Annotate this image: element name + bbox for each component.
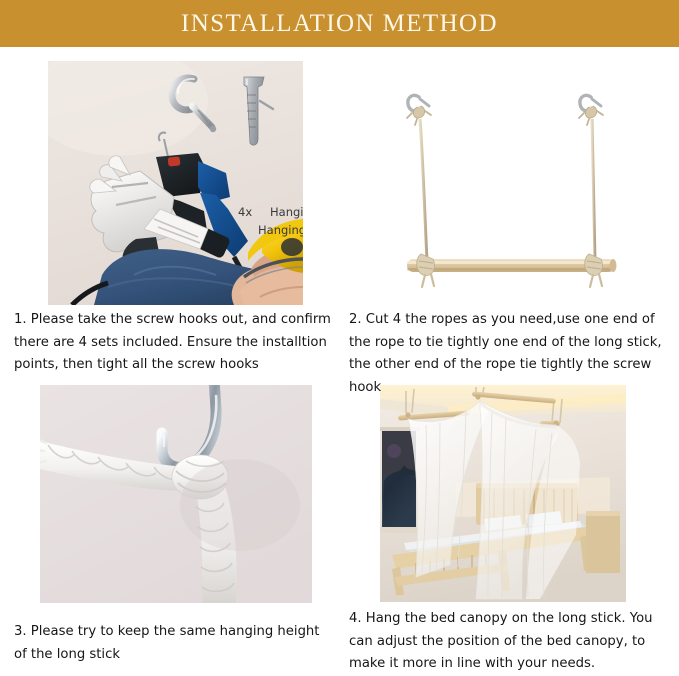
step-2-photo	[355, 61, 667, 295]
step-2-text: 2. Cut 4 the ropes as you need,use one e…	[349, 309, 677, 400]
page-title: INSTALLATION METHOD	[181, 10, 498, 38]
canopy-netting	[408, 401, 580, 599]
nightstand	[586, 513, 620, 573]
step-1-text: 1. Please take the screw hooks out, and …	[14, 309, 336, 377]
step-4-photo	[380, 385, 626, 602]
step-3-text: 3. Please try to keep the same hanging h…	[14, 621, 326, 666]
page-header-banner: INSTALLATION METHOD	[0, 0, 679, 47]
step-1-illustration	[48, 61, 303, 305]
step-1-photo: 4x Hanging kit Hanging hook	[48, 61, 303, 305]
installation-instruction-sheet: INSTALLATION METHOD	[0, 0, 679, 673]
step-4-illustration	[380, 385, 626, 602]
hanging-hook-label: Hanging hook	[258, 223, 303, 237]
step-3-photo	[40, 385, 312, 603]
hanging-kit-label: Hanging kit	[270, 205, 303, 219]
step-4-text: 4. Hang the bed canopy on the long stick…	[349, 608, 679, 676]
hanging-kit-count-label: 4x	[238, 205, 252, 219]
step-3-illustration	[40, 385, 312, 603]
step-2-illustration	[355, 61, 667, 295]
